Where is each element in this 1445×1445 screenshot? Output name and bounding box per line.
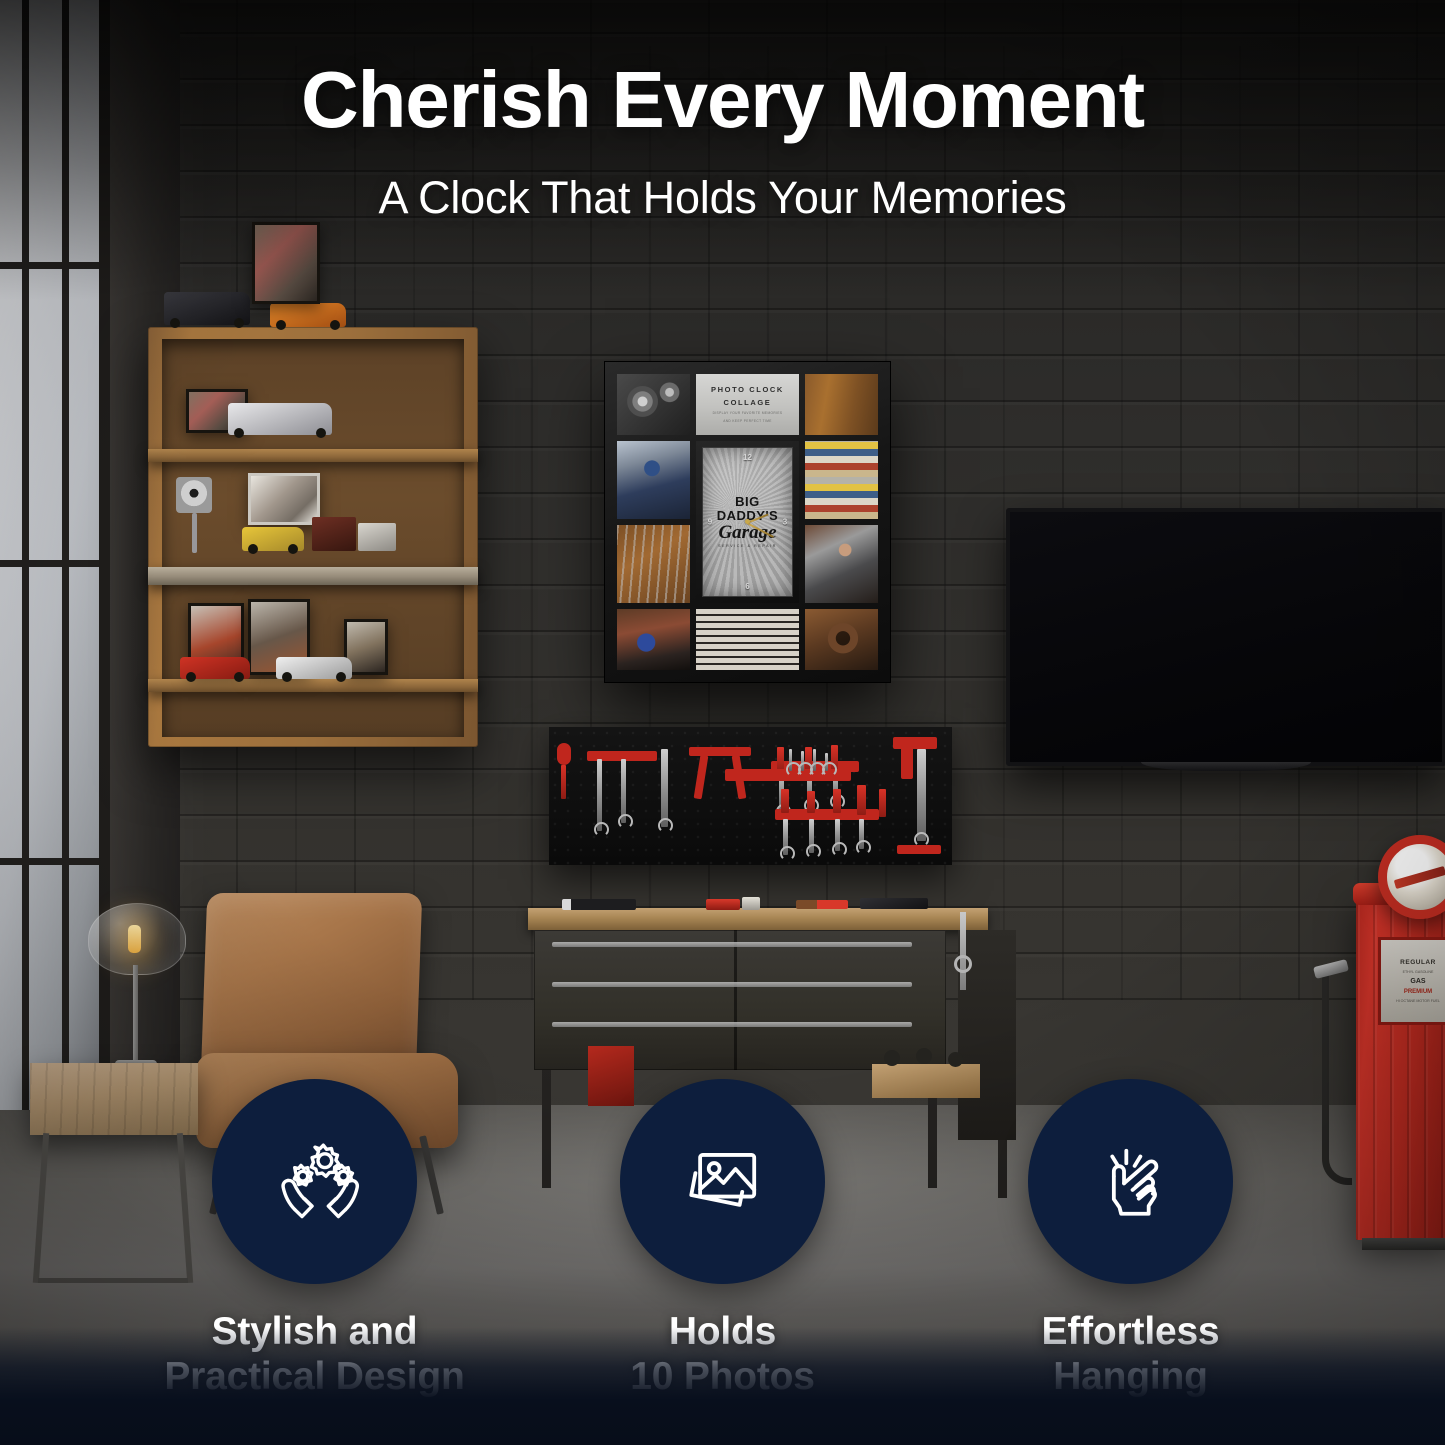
feature-label-3: Effortless Hanging <box>1042 1310 1220 1399</box>
model-car-white-convertible <box>228 403 332 435</box>
feature-icon-circle-1 <box>212 1079 417 1284</box>
lamp-stem <box>133 965 138 1067</box>
bench-clamp <box>960 912 966 990</box>
feature-effortless-hanging: Effortless Hanging <box>966 1079 1296 1399</box>
collage-tile-gears <box>617 374 690 435</box>
model-car-red <box>180 657 250 679</box>
collage-label-card: PHOTO CLOCK COLLAGE DISPLAY YOUR FAVORIT… <box>696 374 799 435</box>
framed-photo-top <box>252 222 320 304</box>
small-display-box <box>358 523 396 551</box>
feature-holds-10-photos: Holds 10 Photos <box>558 1079 888 1399</box>
collage-tile-mechanic-blue <box>617 441 690 519</box>
workbench-top <box>528 908 988 930</box>
vintage-tin-box <box>312 517 356 551</box>
collage-tile-man-workshop <box>805 525 878 603</box>
wall-bookshelf <box>148 327 478 747</box>
model-car-black <box>164 292 250 325</box>
model-car-orange <box>270 303 346 327</box>
collage-tile-workbench-tools <box>805 374 878 435</box>
bench-tool-black <box>562 899 636 910</box>
feature-label-1: Stylish and Practical Design <box>164 1310 464 1399</box>
shelf2-framed-art <box>248 473 320 525</box>
brand-tagline: SERVICE & REPAIR <box>703 545 792 549</box>
label-subtext-line2: AND KEEP PERFECT TIME <box>723 419 772 424</box>
chair-backrest <box>201 893 422 1078</box>
bench-tool-case <box>860 898 928 909</box>
collage-grid: PHOTO CLOCK COLLAGE DISPLAY YOUR FAVORIT… <box>617 374 878 670</box>
pump-panel-line3: GAS <box>1410 978 1425 985</box>
gas-pump-panel: REGULAR ETHYL GASOLINE GAS PREMIUM HI OC… <box>1378 937 1445 1025</box>
collage-tile-steering-wheel <box>805 609 878 670</box>
page-subheadline: A Clock That Holds Your Memories <box>0 172 1445 224</box>
brand-line-3: Garage <box>703 523 792 542</box>
model-car-white <box>276 657 352 679</box>
pump-panel-line2: ETHYL GASOLINE <box>1403 970 1434 974</box>
tray-tool-1 <box>884 1050 900 1066</box>
collage-tile-parts-bins <box>696 609 799 670</box>
tray-tool-2 <box>916 1048 932 1064</box>
brand-line-1: BIG <box>703 495 792 508</box>
pump-panel-line5: HI OCTANE MOTOR FUEL <box>1396 999 1440 1003</box>
feature-icon-circle-3 <box>1028 1079 1233 1284</box>
hands-holding-gears-icon <box>263 1130 367 1234</box>
edison-bulb <box>128 925 141 953</box>
label-title-line2: COLLAGE <box>724 398 772 408</box>
page-headline: Cherish Every Moment <box>0 54 1445 146</box>
tool-pegboard <box>549 727 952 865</box>
tapping-hand-icon <box>1079 1130 1183 1234</box>
photo-clock-collage-product[interactable]: PHOTO CLOCK COLLAGE DISPLAY YOUR FAVORIT… <box>605 362 890 682</box>
tv-screen <box>1010 512 1442 762</box>
model-car-yellow <box>242 527 304 551</box>
feature-icon-circle-2 <box>620 1079 825 1284</box>
bench-tool-red <box>706 899 740 910</box>
clock-numeral-6: 6 <box>745 582 749 591</box>
feature-label-2: Holds 10 Photos <box>630 1310 815 1399</box>
label-subtext-line1: DISPLAY YOUR FAVORITE MEMORIES <box>713 411 783 416</box>
clock-numeral-12: 12 <box>743 453 752 462</box>
collage-tile-license-plates <box>805 441 878 519</box>
wall-mounted-tv <box>1006 508 1445 766</box>
clock-module[interactable]: 12 3 6 9 BIG DADDY'S Garage SERVICE & RE… <box>696 441 799 603</box>
clamp-handle <box>954 955 972 973</box>
clock-face: 12 3 6 9 BIG DADDY'S Garage SERVICE & RE… <box>703 448 792 596</box>
bench-tool-drill <box>796 900 848 909</box>
feature-stylish-practical-design: Stylish and Practical Design <box>150 1079 480 1399</box>
collage-tile-tool-wall <box>617 525 690 603</box>
product-marketing-image: PHOTO CLOCK COLLAGE DISPLAY YOUR FAVORIT… <box>0 0 1445 1445</box>
pump-panel-line4: PREMIUM <box>1404 989 1432 995</box>
stacked-photos-icon <box>671 1130 775 1234</box>
pump-panel-line1: REGULAR <box>1400 959 1436 966</box>
bench-tool-light <box>742 897 760 910</box>
ornament-stand <box>192 513 197 553</box>
feature-row: Stylish and Practical Design Holds 10 Ph… <box>0 1079 1445 1399</box>
tray-tool-3 <box>948 1052 963 1067</box>
label-title-line1: PHOTO CLOCK <box>711 385 784 395</box>
target-ornament <box>176 477 212 513</box>
collage-tile-mechanic-under-car <box>617 609 690 670</box>
